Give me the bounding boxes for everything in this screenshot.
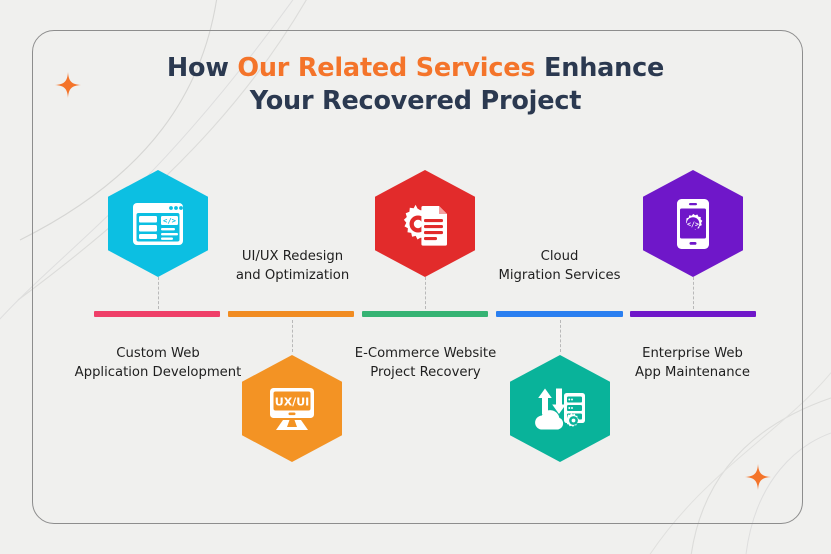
- hexagon-custom-web-application-development[interactable]: </>: [108, 170, 208, 277]
- connector-stem-3: [425, 277, 426, 309]
- bar-segment-1: [94, 311, 220, 317]
- svg-text:UX/UI: UX/UI: [275, 395, 309, 408]
- monitor-uxui-icon: UX/UI: [266, 386, 318, 432]
- browser-code-window-icon: </>: [131, 201, 185, 247]
- label-cloud-migration-services: Cloud Migration Services: [472, 248, 647, 285]
- services-diagram: </> Custom Web Application Development U…: [0, 0, 831, 554]
- bar-segment-5: [630, 311, 756, 317]
- gear-document-icon: [398, 200, 452, 248]
- connector-stem-2: [292, 320, 293, 352]
- label-ui-ux-redesign-and-optimization: UI/UX Redesign and Optimization: [205, 248, 380, 285]
- bar-segment-3: [362, 311, 488, 317]
- mobile-gear-code-icon: </>: [672, 197, 714, 251]
- label-e-commerce-website-project-recovery: E-Commerce Website Project Recovery: [328, 345, 523, 382]
- hexagon-cloud-migration-services[interactable]: [510, 355, 610, 462]
- bar-segment-2: [228, 311, 354, 317]
- cloud-server-migration-icon: [532, 384, 588, 434]
- connector-stem-4: [560, 320, 561, 352]
- connector-stem-1: [158, 277, 159, 309]
- svg-text:</>: </>: [687, 220, 699, 228]
- bar-segment-4: [496, 311, 623, 317]
- hexagon-e-commerce-website-project-recovery[interactable]: [375, 170, 475, 277]
- hexagon-enterprise-web-app-maintenance[interactable]: </>: [643, 170, 743, 277]
- label-custom-web-application-development: Custom Web Application Development: [33, 345, 283, 382]
- connector-stem-5: [693, 277, 694, 309]
- svg-text:</>: </>: [163, 215, 177, 224]
- label-enterprise-web-app-maintenance: Enterprise Web App Maintenance: [605, 345, 780, 382]
